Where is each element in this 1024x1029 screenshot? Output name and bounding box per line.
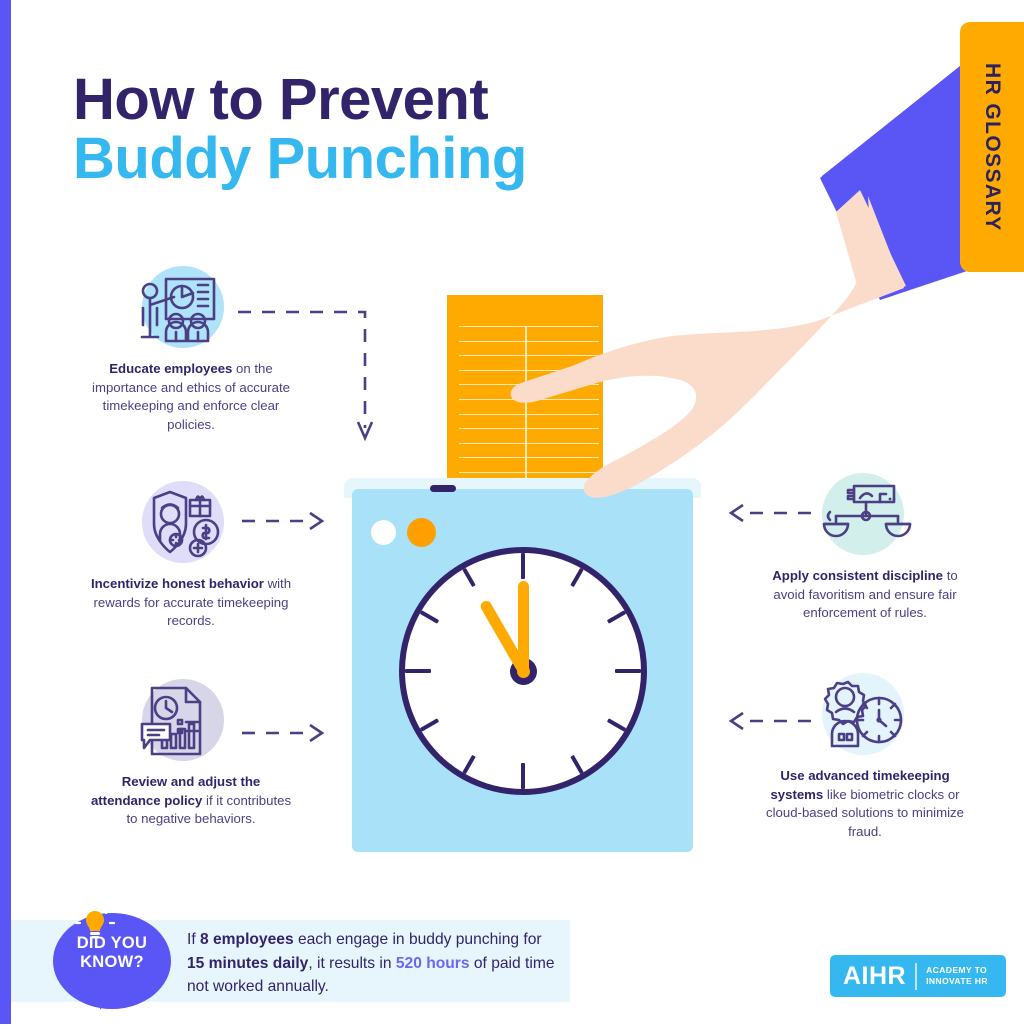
clock-tick [607, 610, 626, 623]
presentation-training-icon [134, 263, 232, 353]
fact-mid2: , it results in [308, 955, 396, 972]
aihr-logo-tagline-line1: ACADEMY TO [926, 965, 988, 976]
timecard-grid [459, 326, 599, 495]
step-1-text: Educate employees on the importance and … [88, 360, 294, 435]
fact-prefix: If [187, 931, 200, 948]
step-2-icon-bg [142, 481, 224, 563]
aihr-logo[interactable]: AIHR ACADEMY TO INNOVATE HR [830, 955, 1006, 997]
aihr-logo-tagline: ACADEMY TO INNOVATE HR [926, 965, 988, 986]
fact-hours-highlight: 520 hours [396, 955, 470, 972]
step-4-text: Apply consistent discipline to avoid fav… [762, 567, 968, 623]
step-advanced-timekeeping-systems: Use advanced timekeeping systems like bi… [762, 673, 968, 842]
attendance-report-icon [134, 676, 232, 766]
hr-glossary-tab[interactable]: HR GLOSSARY [960, 22, 1024, 272]
card-slot-right [588, 485, 614, 492]
clock-tick [521, 763, 525, 789]
left-edge-stripe [0, 0, 11, 1024]
indicator-light-orange [407, 518, 436, 547]
wrist-shape [836, 190, 906, 302]
lightbulb-icon [73, 903, 117, 948]
shield-reward-icon [134, 478, 232, 568]
clock-tick [615, 669, 641, 673]
cufflink-circle [859, 240, 889, 270]
step-review-attendance-policy: Review and adjust the attendance policy … [88, 679, 294, 829]
fact-mid1: each engage in buddy punching for [294, 931, 542, 948]
aihr-logo-divider [915, 963, 917, 990]
aihr-logo-wordmark: AIHR [830, 962, 906, 991]
step-3-text: Review and adjust the attendance policy … [88, 773, 294, 829]
page-title-line1: How to Prevent [73, 72, 527, 128]
step-3-icon-bg [142, 679, 224, 761]
clock-tick [420, 718, 439, 731]
analog-clock [399, 547, 647, 795]
did-you-know-label-line2: KNOW? [53, 953, 171, 972]
clock-tick [405, 669, 431, 673]
step-2-bold: Incentivize honest behavior [91, 576, 264, 591]
scales-justice-icon [814, 470, 912, 560]
step-5-icon-bg [822, 673, 904, 755]
clock-tick [521, 553, 525, 579]
timecard [447, 295, 603, 495]
clock-tick [462, 755, 475, 774]
clock-tick [462, 568, 475, 587]
did-you-know-fact: If 8 employees each engage in buddy punc… [187, 928, 559, 999]
clock-center-pin [517, 665, 530, 678]
fact-minutes: 15 minutes daily [187, 955, 308, 972]
step-incentivize-honest-behavior: Incentivize honest behavior with rewards… [88, 481, 294, 631]
gear-person-clock-icon [814, 670, 912, 760]
page-title-line2: Buddy Punching [73, 128, 527, 189]
step-4-icon-bg [822, 473, 904, 555]
clock-tick [607, 718, 626, 731]
fact-employees: 8 employees [200, 931, 294, 948]
page-title: How to Prevent Buddy Punching [73, 72, 527, 189]
step-2-text: Incentivize honest behavior with rewards… [88, 575, 294, 631]
clock-tick [570, 755, 583, 774]
step-4-bold: Apply consistent discipline [772, 568, 943, 583]
aihr-logo-tagline-line2: INNOVATE HR [926, 976, 988, 987]
hr-glossary-tab-label: HR GLOSSARY [980, 63, 1004, 232]
step-5-text: Use advanced timekeeping systems like bi… [762, 767, 968, 842]
step-1-bold: Educate employees [109, 361, 232, 376]
indicator-light-white [371, 520, 396, 545]
clock-tick [420, 610, 439, 623]
clock-tick [570, 568, 583, 587]
step-educate-employees: Educate employees on the importance and … [88, 266, 294, 435]
card-slot-left [430, 485, 456, 492]
step-apply-consistent-discipline: Apply consistent discipline to avoid fav… [762, 473, 968, 623]
step-1-icon-bg [142, 266, 224, 348]
